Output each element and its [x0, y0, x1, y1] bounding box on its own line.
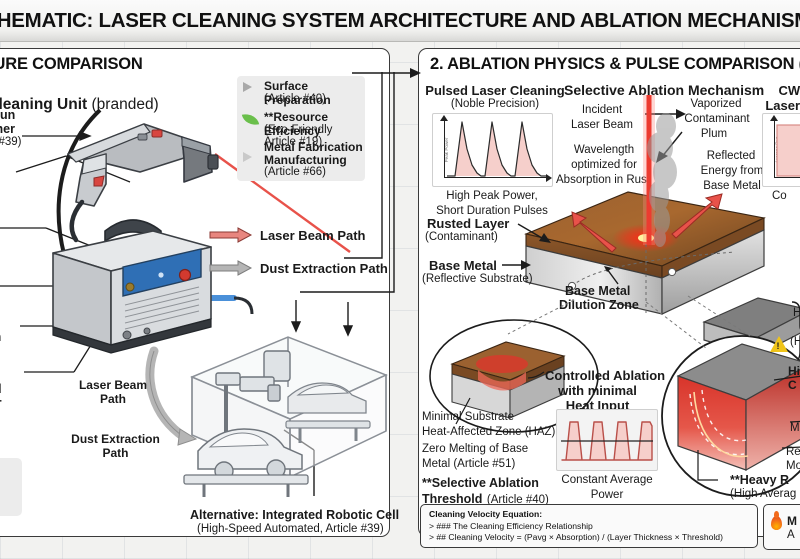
inset-connection-lines	[640, 296, 770, 366]
leaf-icon	[242, 112, 259, 128]
warning-triangle-icon	[770, 336, 788, 352]
eco-callout-box: aration fficiency Article #19)	[0, 458, 22, 516]
title-bar: L SCHEMATIC: LASER CLEANING SYSTEM ARCHI…	[0, 0, 800, 42]
zero-melting-line1: Zero Melting of Base	[422, 443, 528, 455]
triangle-bullet-icon-2	[243, 152, 252, 162]
cw-red-label-line2: Mo	[786, 460, 800, 472]
cleaning-gun-label-line3: icle #39)	[0, 136, 21, 148]
heavy-rust-bold: **Heavy R	[730, 473, 789, 487]
robotic-cell-illustration	[180, 315, 395, 505]
thermal-note-box: M A	[763, 504, 800, 550]
equation-title: Cleaning Velocity Equation:	[429, 509, 749, 521]
equation-line1: > ### The Cleaning Efficiency Relationsh…	[429, 521, 749, 533]
robotic-cell-caption-bold: Alternative: Integrated Robotic Cell	[190, 508, 399, 522]
equation-line2: > ## Cleaning Velocity = (Pavg × Absorpt…	[429, 532, 749, 544]
callout-metal-fabrication-label: Metal Fabrication	[264, 140, 363, 154]
panel-1-subtitle-bold: dheld Laser Cleaning Unit	[0, 96, 87, 113]
rusted-layer-sub: (Contaminant)	[425, 231, 498, 243]
vaporized-line1: Vaporized	[668, 98, 764, 110]
cw-chart-plot	[775, 119, 800, 178]
rusted-layer-arrow	[518, 222, 552, 244]
pulsed-heading: Pulsed Laser Cleaning	[425, 83, 565, 98]
cleaning-velocity-equation-box: Cleaning Velocity Equation: > ### The Cl…	[420, 504, 758, 548]
dust-extraction-path-flow-line2: Path	[58, 446, 173, 460]
zero-melting-line2: Metal (Article #51)	[422, 458, 515, 470]
panel-1-subtitle: dheld Laser Cleaning Unit (branded)	[0, 96, 159, 114]
dilution-zone-arrow	[604, 266, 624, 286]
incident-beam-line1: Incident	[566, 104, 638, 116]
heavy-rust-sub: (High Averag	[730, 488, 796, 500]
haz-note-line1: Minimal Substrate	[422, 411, 514, 423]
vapor-plume	[632, 110, 692, 245]
thermal-note-line1: M	[787, 514, 797, 528]
cleaning-gun-label-line2: canner	[0, 122, 15, 136]
cw-hi-label-line2: C	[788, 378, 797, 392]
panel-2-title: 2. ABLATION PHYSICS & PULSE COMPARISON (…	[430, 55, 800, 74]
robotic-cell-caption-sub: (High-Speed Automated, Article #39)	[197, 523, 384, 535]
triangle-bullet-icon	[243, 82, 252, 92]
laser-beam-path-legend-arrow-icon	[210, 228, 252, 242]
controlled-ablation-line2: with minimal	[545, 383, 650, 398]
controlled-ablation-line1: Controlled Ablation	[545, 368, 665, 383]
article-callout-box: Surface Preparation (Article #40) **Reso…	[237, 76, 365, 181]
selective-threshold-line1: **Selective Ablation	[422, 476, 539, 490]
pulsed-chart-plot	[445, 119, 548, 178]
shield-connector-label-line1: ield	[0, 382, 2, 396]
cw-red-label-line1: Re	[786, 446, 800, 458]
constant-power-chart	[556, 409, 658, 471]
callout-metal-fabrication-sub: (Article #66)	[264, 166, 326, 178]
base-metal-sub: (Reflective Substrate)	[422, 273, 533, 285]
rusted-layer-label: Rusted Layer	[427, 216, 509, 231]
callout-surface-preparation-sub: (Article #40)	[264, 93, 326, 105]
constant-power-plot	[561, 414, 653, 466]
constant-power-caption-line1: Constant Average	[551, 474, 663, 486]
pulsed-laser-chart: Peak Power	[432, 113, 553, 187]
base-metal-label: Base Metal	[429, 258, 497, 273]
panel-connector-arrow	[352, 67, 422, 79]
dust-extraction-path-flow-line1: Dust Extraction	[58, 432, 173, 446]
laser-beam-path-flow-line1: Laser Beam	[78, 378, 148, 392]
laser-beam-path-flow-line2: Path	[78, 392, 148, 406]
panel-1-subtitle-light: (branded)	[92, 96, 159, 113]
callout-metal-fabrication-label2: Manufacturing	[264, 153, 347, 167]
base-metal-arrow	[502, 260, 532, 270]
cw-laser-chart: Average Pwr	[762, 113, 800, 187]
page-title: L SCHEMATIC: LASER CLEANING SYSTEM ARCHI…	[0, 9, 800, 33]
connector-label-line1: on	[0, 330, 1, 344]
laser-beam-path-legend-label: Laser Beam Path	[260, 228, 366, 243]
thermal-note-line2: A	[787, 529, 795, 541]
haz-note-line2: Heat-Affected Zone (HAZ)	[422, 426, 555, 438]
inset-connection-lines-left	[488, 300, 578, 350]
dust-extraction-path-legend-arrow-icon	[210, 261, 252, 275]
controlled-ablation-leader	[528, 368, 546, 380]
shield-connector-label-line2: ctor	[0, 396, 2, 410]
dilution-zone-line1: Base Metal	[565, 284, 630, 298]
pulsed-subheading: (Noble Precision)	[425, 98, 565, 110]
cw-mid-label: M	[790, 422, 800, 434]
cw-hi-label-line1: Hi	[788, 364, 800, 378]
constant-power-caption-line2: Power	[551, 489, 663, 501]
cw-upper-bracket-label1: H	[793, 307, 800, 319]
panel-1-title: ARCHITECTURE COMPARISON	[0, 55, 143, 74]
flame-icon	[771, 516, 782, 530]
